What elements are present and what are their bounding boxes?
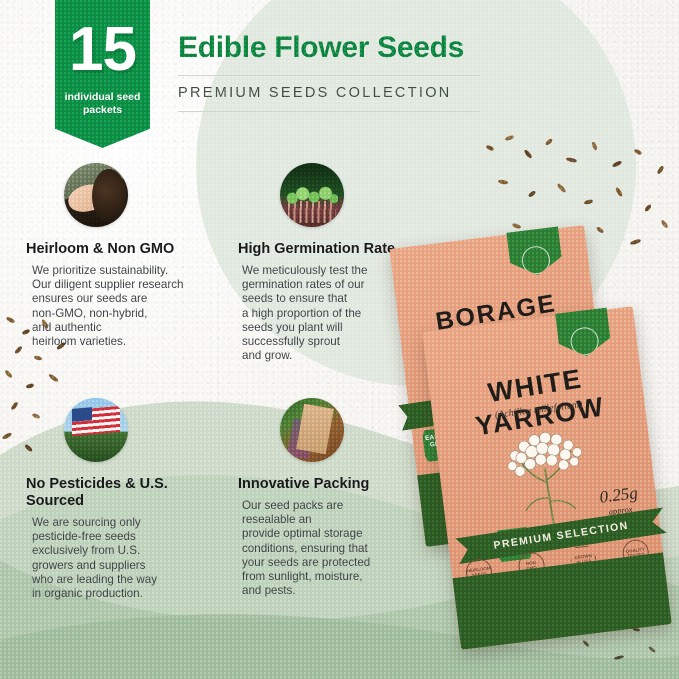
brand-logo-badge <box>506 226 563 278</box>
packet-count-caption: individual seed packets <box>55 91 150 117</box>
feature-title: Heirloom & Non GMO <box>22 241 220 258</box>
product-infographic: 15 individual seed packets Edible Flower… <box>0 0 679 679</box>
subtitle-divider <box>178 111 480 112</box>
sprouting-seedlings-icon <box>280 163 344 227</box>
packet-weight: 0.25g <box>598 483 638 507</box>
packet-count-number: 15 <box>55 18 150 82</box>
logo-ring-icon <box>569 326 600 357</box>
logo-ring-icon <box>520 245 551 276</box>
seed-packet-white-yarrow: WHITE YARROW (Achillea millefolium) <box>422 306 671 649</box>
title-divider <box>178 75 480 76</box>
hands-holding-seeds-icon <box>64 163 128 227</box>
feature-title: No Pesticides & U.S. Sourced <box>22 476 220 510</box>
american-flag-icon <box>64 398 128 462</box>
yarrow-flower-illustration <box>482 415 612 533</box>
feature-no-pesticides-us-sourced: No Pesticides & U.S. Sourced We are sour… <box>22 398 220 601</box>
seed-packets-photo: BORAGE (Borago officinalis) EASY TO GROW… <box>383 236 679 666</box>
brand-logo-badge <box>555 307 612 359</box>
seed-packet-icon <box>280 398 344 462</box>
feature-body: We prioritize sustainability. Our dilige… <box>22 264 220 349</box>
page-title: Edible Flower Seeds <box>178 30 508 66</box>
feature-body: We are sourcing only pesticide-free seed… <box>22 516 220 601</box>
seed-packet-count-badge: 15 individual seed packets <box>55 0 150 148</box>
page-subtitle: PREMIUM SEEDS COLLECTION <box>178 84 508 102</box>
header: Edible Flower Seeds PREMIUM SEEDS COLLEC… <box>178 30 508 112</box>
feature-heirloom-non-gmo: Heirloom & Non GMO We prioritize sustain… <box>22 163 220 349</box>
